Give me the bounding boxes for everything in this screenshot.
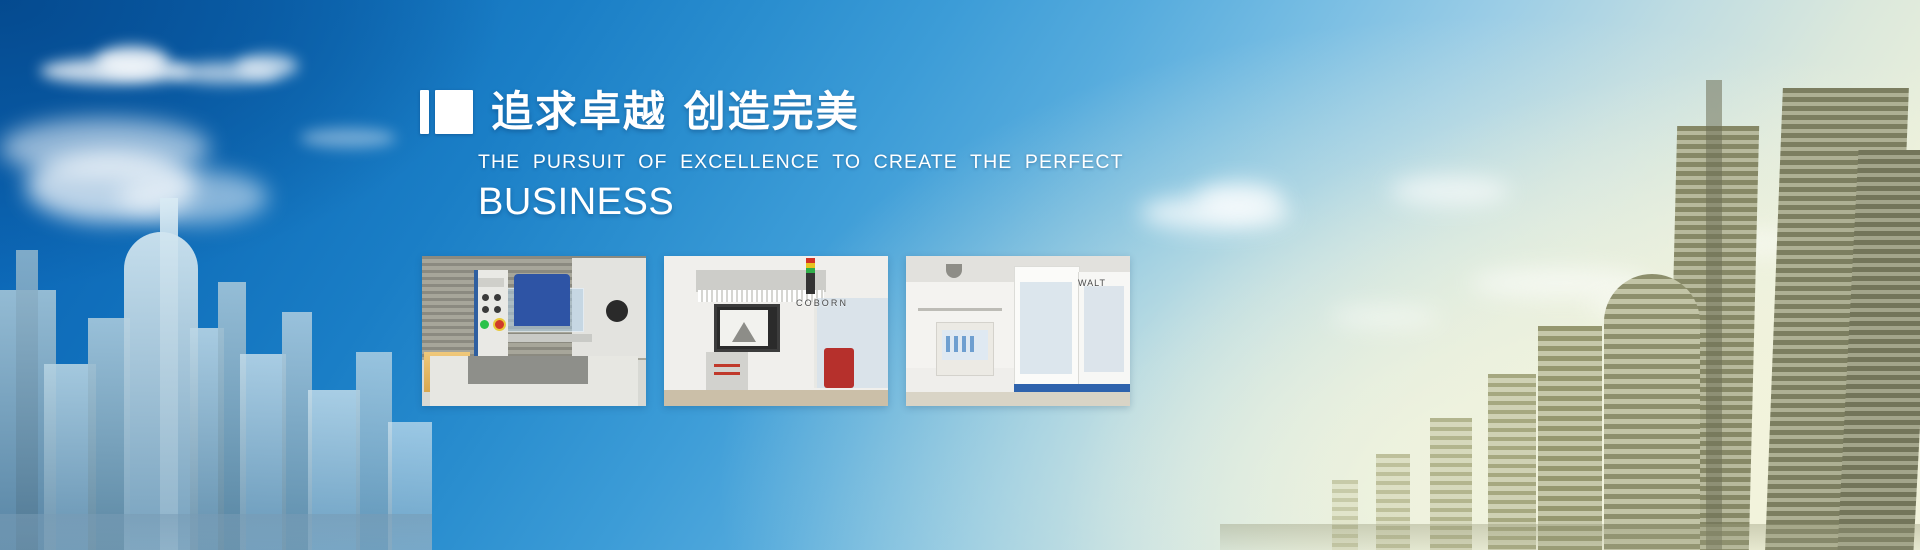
photo1-button-b xyxy=(494,294,501,301)
photo3-screen-bar-c xyxy=(962,336,966,352)
photo1-spindle-head xyxy=(514,274,570,326)
photo1-green-indicator xyxy=(480,320,489,329)
photo3-caption: WALT xyxy=(1078,278,1106,288)
photo2-screen-graphic xyxy=(732,322,756,342)
photo2-cabinet-stripe-b xyxy=(714,372,740,375)
business-word: BUSINESS xyxy=(478,180,1180,224)
product-photo-grinding-machine[interactable] xyxy=(422,256,646,406)
headline-chinese: 追求卓越 创造完美 xyxy=(491,89,860,135)
photo2-floor xyxy=(664,390,888,406)
photo3-screen-bar-d xyxy=(970,336,974,352)
tagline-english: THE PURSUIT OF EXCELLENCE TO CREATE THE … xyxy=(478,150,1180,174)
photo3-machine-glass xyxy=(1020,282,1072,374)
hero-banner: 追求卓越 创造完美 THE PURSUIT OF EXCELLENCE TO C… xyxy=(0,0,1920,550)
headline-row: 追求卓越 创造完美 xyxy=(420,88,1180,136)
logo-square-shape xyxy=(435,90,473,134)
photo3-blue-base-stripe xyxy=(1014,384,1130,392)
cityscape-left xyxy=(0,190,430,550)
photo3-machine-glass-2 xyxy=(1084,286,1124,372)
photo1-panel-display xyxy=(478,278,504,287)
product-photo-walter-grinder[interactable]: WALT xyxy=(906,256,1130,406)
photo1-button-a xyxy=(482,294,489,301)
photo1-button-c xyxy=(482,306,489,313)
cityscape-right xyxy=(1220,80,1920,550)
logo-bar-shape xyxy=(420,90,429,134)
photo1-base-shadow xyxy=(468,356,588,384)
photo2-cabinet-stripe-a xyxy=(714,364,740,367)
company-logo-mark xyxy=(420,90,473,134)
photo2-stack-light-green xyxy=(806,268,815,273)
photo1-work-table xyxy=(500,334,592,342)
photo1-button-d xyxy=(494,306,501,313)
photo2-caption: COBORN xyxy=(796,298,848,308)
product-photo-strip: COBORN WALT xyxy=(422,256,1130,406)
photo3-floor xyxy=(906,392,1130,406)
photo3-screen-bar-b xyxy=(954,336,958,352)
photo1-handwheel xyxy=(606,300,628,322)
photo3-screen-bar-a xyxy=(946,336,950,352)
photo2-red-fixture xyxy=(824,348,854,388)
banner-text-block: 追求卓越 创造完美 THE PURSUIT OF EXCELLENCE TO C… xyxy=(420,88,1180,224)
photo1-emergency-stop xyxy=(493,318,506,331)
photo3-wall-conduit xyxy=(918,308,1002,311)
product-photo-coborn-cnc[interactable]: COBORN xyxy=(664,256,888,406)
